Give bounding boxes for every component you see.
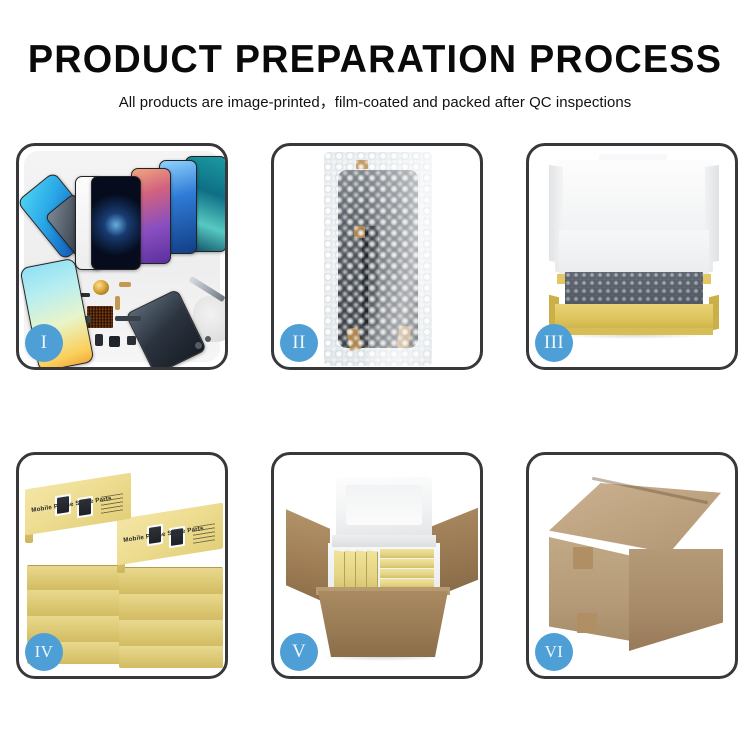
process-step-grid: I II [0,141,750,686]
step-badge-5: V [280,633,318,671]
screw-icon [205,336,211,342]
kraft-box-front [119,593,223,620]
process-step-panel-3[interactable]: III [526,143,738,370]
page-header: PRODUCT PREPARATION PROCESS All products… [0,0,750,112]
process-step-panel-1[interactable]: I [16,143,228,370]
carton-front-icon [318,591,448,657]
screw-icon [195,342,202,349]
foam-box-lid-icon [336,477,432,539]
carton-top-face-icon [549,483,721,553]
page-subtitle: All products are image-printed，film-coat… [6,90,745,112]
step-badge-1: I [25,324,63,362]
foam-lid-recess [346,485,422,525]
packing-tape-icon [577,613,597,633]
process-step-panel-2[interactable]: II [271,143,483,370]
spec-list-text [101,493,123,513]
bubble-wrap-bag-icon [324,152,432,366]
kraft-tray-front-icon [555,304,713,330]
kraft-box-front [27,565,123,590]
foam-lid-edge [332,535,436,547]
step-badge-4: IV [25,633,63,671]
gold-connector-icon [115,296,120,310]
bubble-wrapped-units-icon [565,272,703,306]
ribbon-cable-icon [115,316,141,321]
step-badge-2: II [280,324,318,362]
camera-module-icon [95,334,103,346]
foam-sheet-icon [559,230,709,276]
process-step-panel-5[interactable]: V [271,452,483,679]
carton-right-face-icon [629,549,723,651]
process-step-panel-4[interactable]: Mobile Phone Spare Parts Mobile Phone Sp… [16,452,228,679]
vibrator-icon [127,336,136,345]
retail-box-icon [380,549,434,558]
kraft-tray-lip-icon [555,328,713,335]
process-step-panel-6[interactable]: VI [526,452,738,679]
retail-box-icon [380,559,434,568]
plastic-sheen [368,152,432,366]
kraft-box-front [119,645,223,668]
retail-box-icon [380,569,434,578]
gold-strip-icon [119,282,131,287]
front-glass-black-icon [91,176,141,270]
packing-tape-icon [573,547,593,569]
step-badge-3: III [535,324,573,362]
kraft-box-front [119,619,223,646]
speaker-module-icon [109,336,120,347]
page-title: PRODUCT PREPARATION PROCESS [11,40,739,79]
kraft-box-front [119,567,223,594]
kraft-box-front [27,589,123,616]
step-badge-6: VI [535,633,573,671]
spec-list-text [193,523,215,543]
copper-coil-icon [93,280,109,295]
